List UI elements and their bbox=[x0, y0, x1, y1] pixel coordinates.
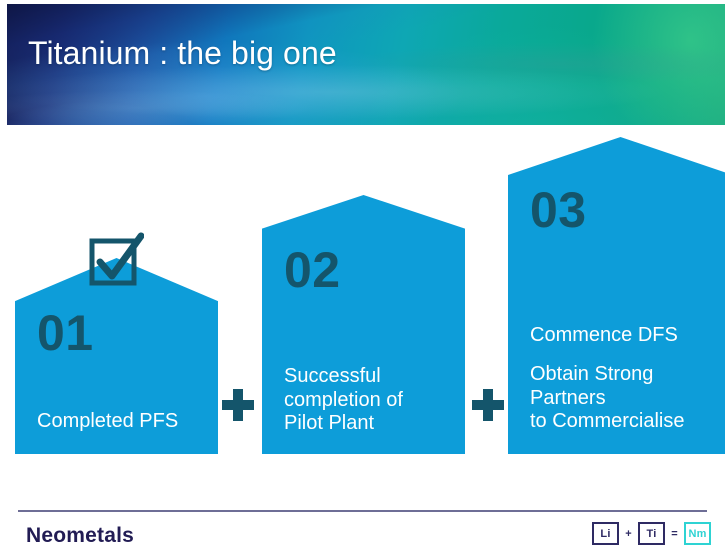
step-label-line: Obtain Strong bbox=[530, 363, 653, 385]
page-title: Titanium : the big one bbox=[28, 35, 337, 72]
step-number: 03 bbox=[530, 185, 587, 235]
step-label-line: Partners bbox=[530, 387, 606, 409]
footer-brand-name: Neometals bbox=[26, 524, 134, 548]
checkbox-checked-icon bbox=[88, 232, 144, 288]
plus-connector-2 bbox=[472, 389, 504, 421]
step-number: 01 bbox=[37, 308, 94, 358]
logo-operator-equals: = bbox=[670, 528, 679, 540]
step-content: 02 Successful completion of Pilot Plant bbox=[262, 195, 465, 454]
logo-operator-plus: + bbox=[624, 528, 633, 540]
step-label-line: Commence DFS bbox=[530, 324, 678, 346]
logo-element-nm: Nm bbox=[684, 522, 711, 545]
step-label-line: Completed PFS bbox=[37, 410, 178, 432]
plus-bar-vertical bbox=[483, 389, 493, 421]
step-label-line: to Commercialise bbox=[530, 410, 684, 432]
step-label: Successful completion of Pilot Plant bbox=[284, 365, 403, 436]
plus-connector-1 bbox=[222, 389, 254, 421]
logo-element-ti: Ti bbox=[638, 522, 665, 545]
step-label-line: Successful bbox=[284, 365, 381, 387]
slide-canvas: Titanium : the big one 01 Completed PFS … bbox=[0, 0, 725, 553]
step-content: 03 Commence DFS Obtain Strong Partners t… bbox=[508, 137, 725, 454]
step-card-03[interactable]: 03 Commence DFS Obtain Strong Partners t… bbox=[508, 137, 725, 454]
step-label-line: Pilot Plant bbox=[284, 412, 374, 434]
logo-element-li: Li bbox=[592, 522, 619, 545]
plus-bar-vertical bbox=[233, 389, 243, 421]
steps-container: 01 Completed PFS 02 Successful completio… bbox=[0, 125, 725, 510]
footer-divider bbox=[18, 510, 707, 512]
step-label: Completed PFS bbox=[37, 410, 178, 434]
step-card-02[interactable]: 02 Successful completion of Pilot Plant bbox=[262, 195, 465, 454]
step-label-line: completion of bbox=[284, 389, 403, 411]
neometals-logo: Li + Ti = Nm bbox=[592, 522, 711, 545]
step-label: Commence DFS Obtain Strong Partners to C… bbox=[530, 324, 684, 434]
step-label-spacer bbox=[530, 347, 684, 363]
step-number: 02 bbox=[284, 245, 341, 295]
